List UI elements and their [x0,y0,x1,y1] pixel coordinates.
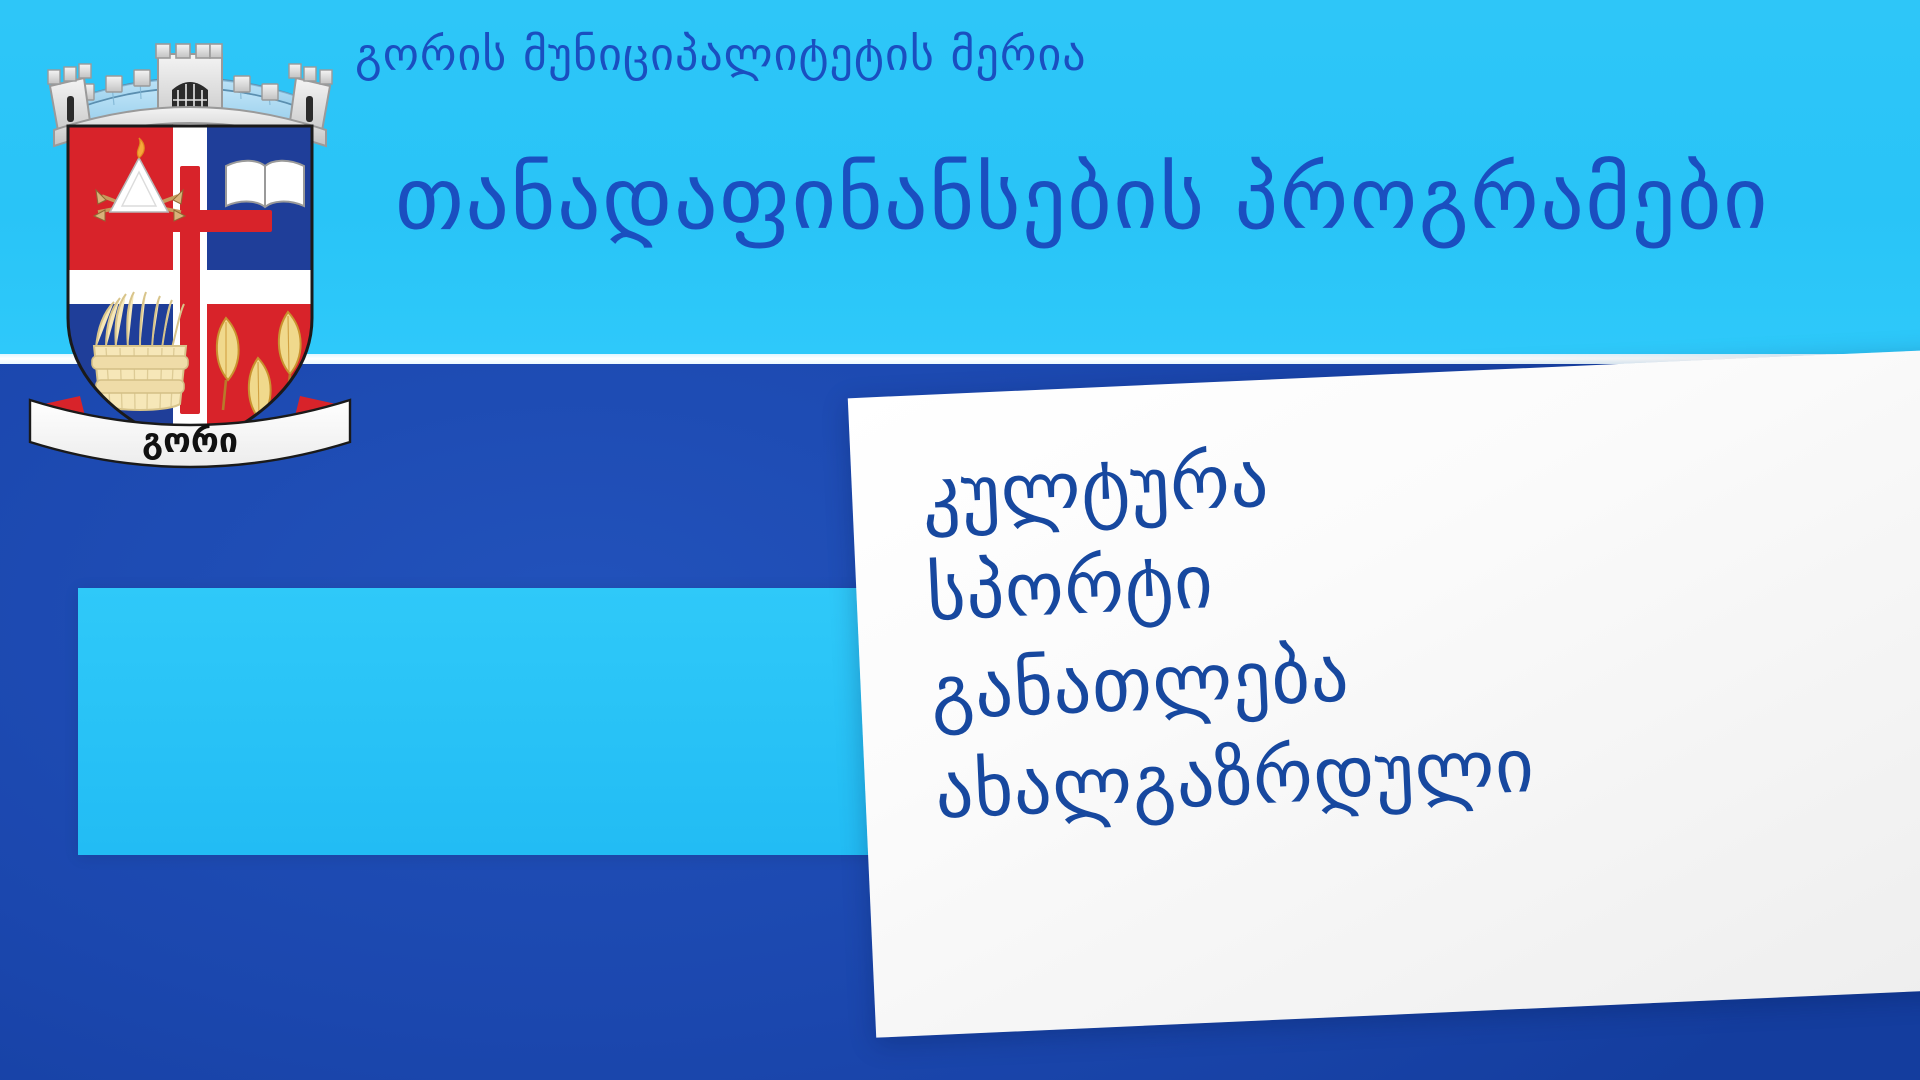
open-book-icon [226,161,304,207]
cyan-content-plate [78,588,908,855]
shield-icon [68,126,312,458]
coat-of-arms: გორი [10,18,370,498]
slide-canvas: გორის მუნიციპალიტეტის მერია თანადაფინანს… [0,0,1920,1080]
page-title: თანადაფინანსების პროგრამები [395,152,1920,247]
ribbon-text: გორი [142,421,238,461]
quarter-2 [190,126,312,288]
programs-card: კულტურა სპორტი განათლება ახალგაზრდული [862,398,1920,1068]
card-text-block: კულტურა სპორტი განათლება ახალგაზრდული [920,402,1920,842]
organization-subtitle: გორის მუნიციპალიტეტის მერია [355,28,1555,81]
